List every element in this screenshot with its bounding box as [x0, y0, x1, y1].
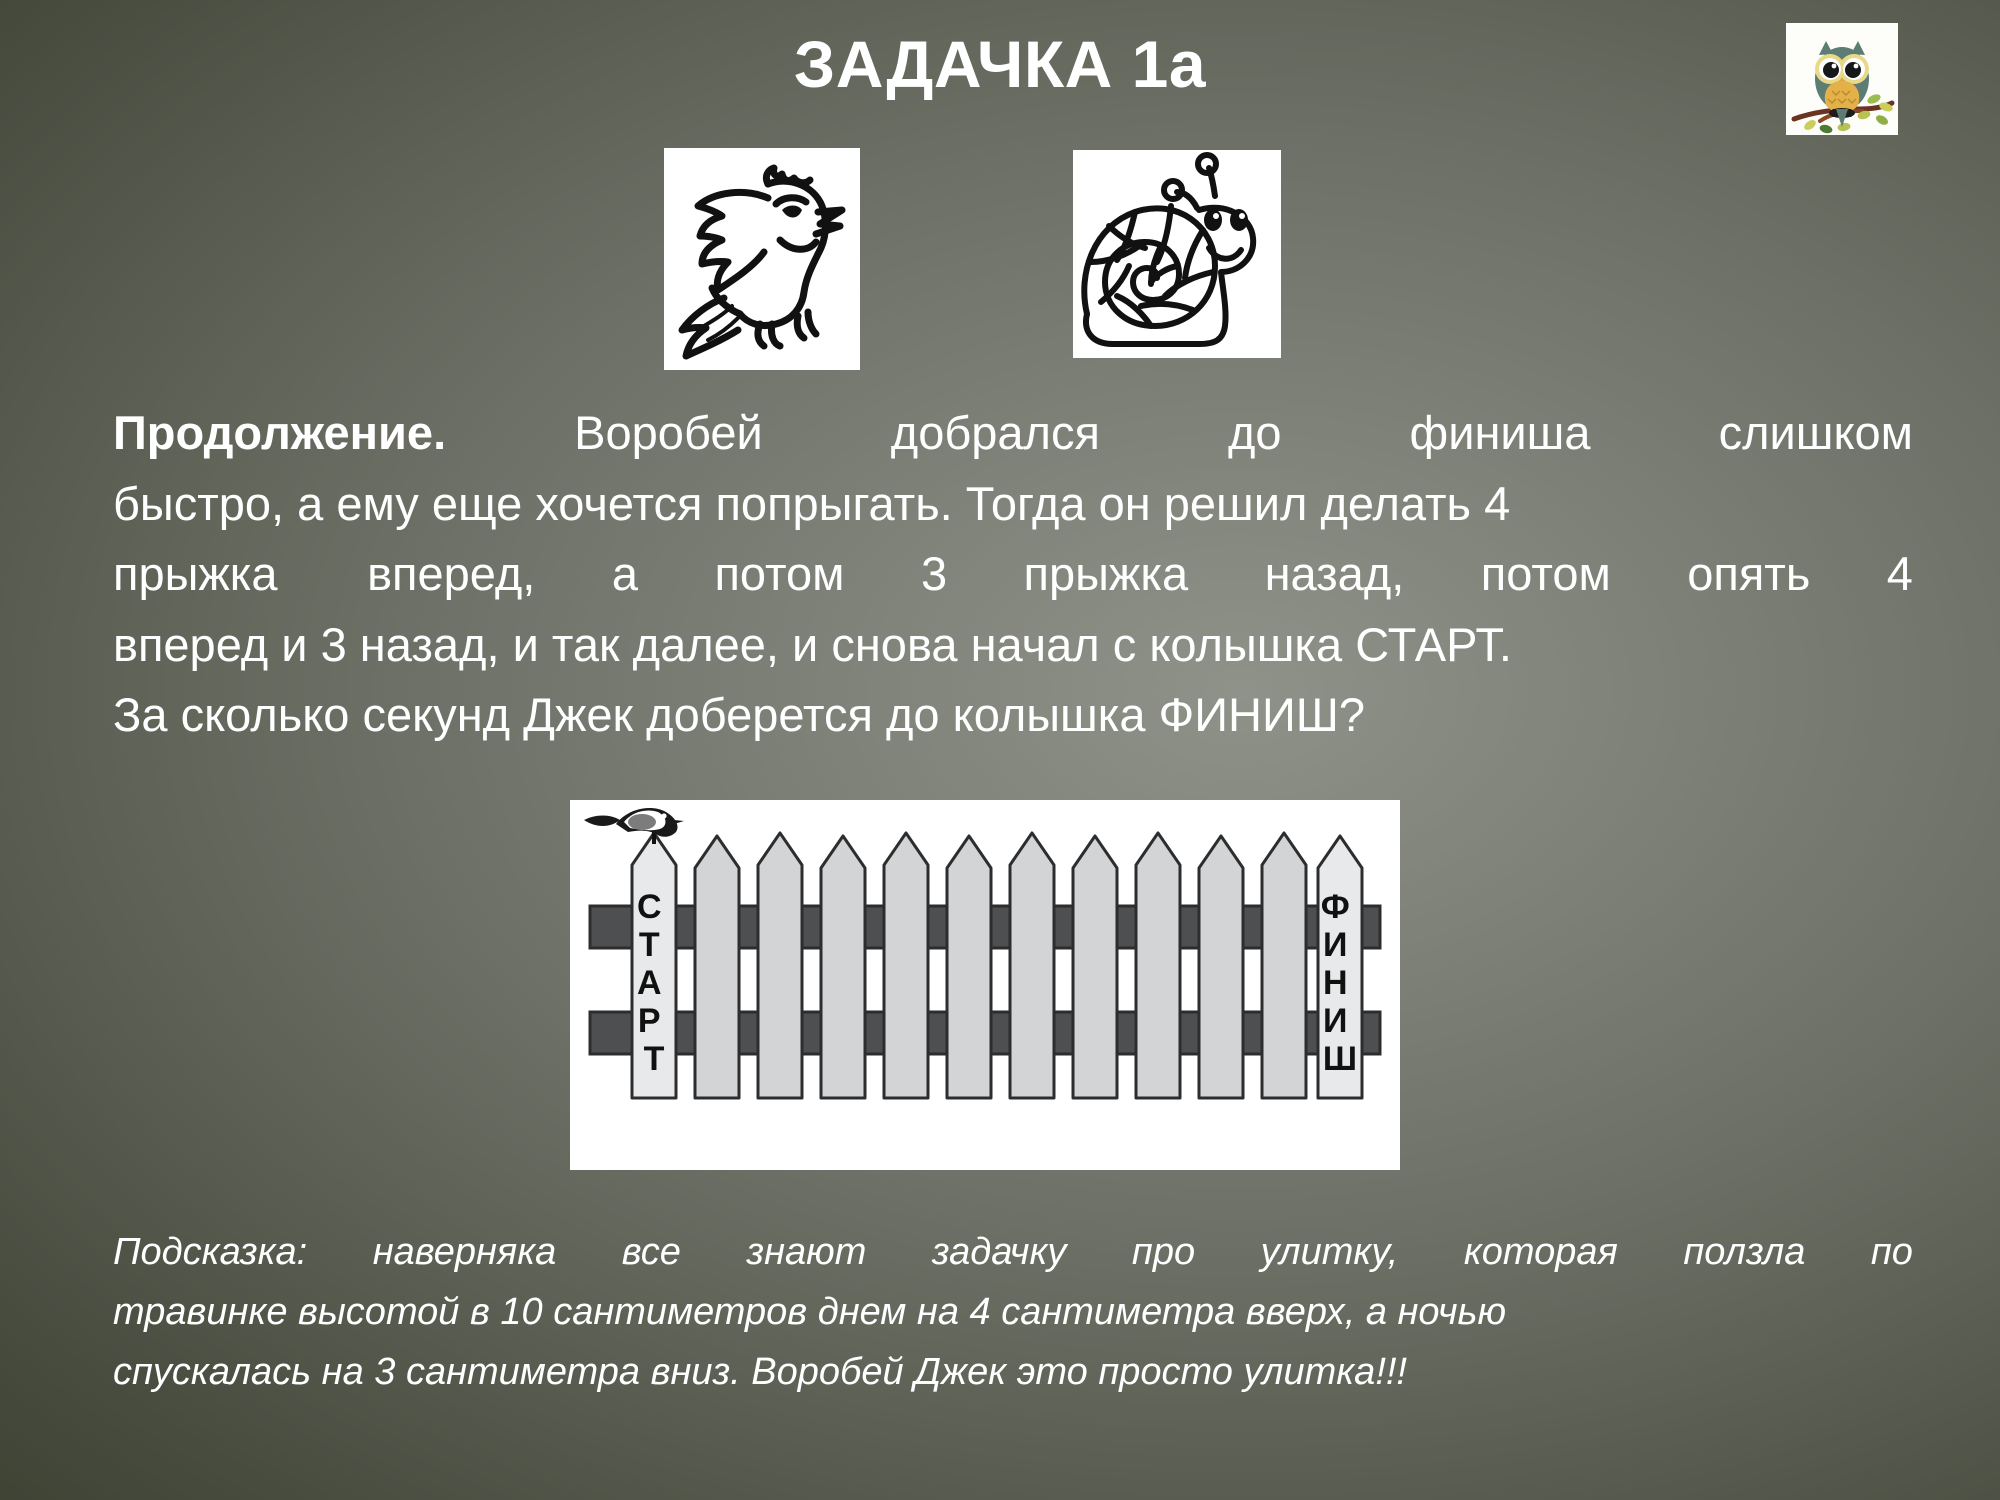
body-line-4: вперед и 3 назад, и так далее, и снова н…: [113, 610, 1913, 681]
body-lead: Продолжение.: [113, 398, 446, 469]
snail-icon: [1073, 150, 1281, 358]
snail-clipart: [1073, 150, 1281, 358]
body-line-2: быстро, а ему еще хочется попрыгать. Тог…: [113, 469, 1913, 540]
sparrow-icon: [664, 148, 860, 370]
hint-line-3: спускалась на 3 сантиметра вниз. Воробей…: [113, 1342, 1913, 1402]
owl-logo: [1786, 23, 1898, 135]
body-paragraph: Продолжение. Воробей добрался до финиша …: [113, 398, 1913, 751]
body-line-1: Продолжение. Воробей добрался до финиша …: [113, 398, 1913, 469]
fence-icon: С Т А Р Т Ф И Н И Ш: [570, 800, 1400, 1170]
slide-canvas: ЗАДАЧКА 1а: [0, 0, 2000, 1500]
hint-line-2: травинке высотой в 10 сантиметров днем н…: [113, 1282, 1913, 1342]
body-line-3: прыжка вперед, а потом 3 прыжка назад, п…: [113, 539, 1913, 610]
hint-line-1: Подсказка: наверняка все знают задачку п…: [113, 1222, 1913, 1282]
fence-finish-label: Ф И Н И Ш: [1321, 888, 1359, 1078]
owl-icon: [1786, 23, 1898, 135]
fence-illustration: С Т А Р Т Ф И Н И Ш: [570, 800, 1400, 1170]
page-title: ЗАДАЧКА 1а: [0, 28, 2000, 101]
sparrow-clipart: [664, 148, 860, 370]
hint-paragraph: Подсказка: наверняка все знают задачку п…: [113, 1222, 1913, 1402]
body-line-5: За сколько секунд Джек доберется до колы…: [113, 680, 1913, 751]
